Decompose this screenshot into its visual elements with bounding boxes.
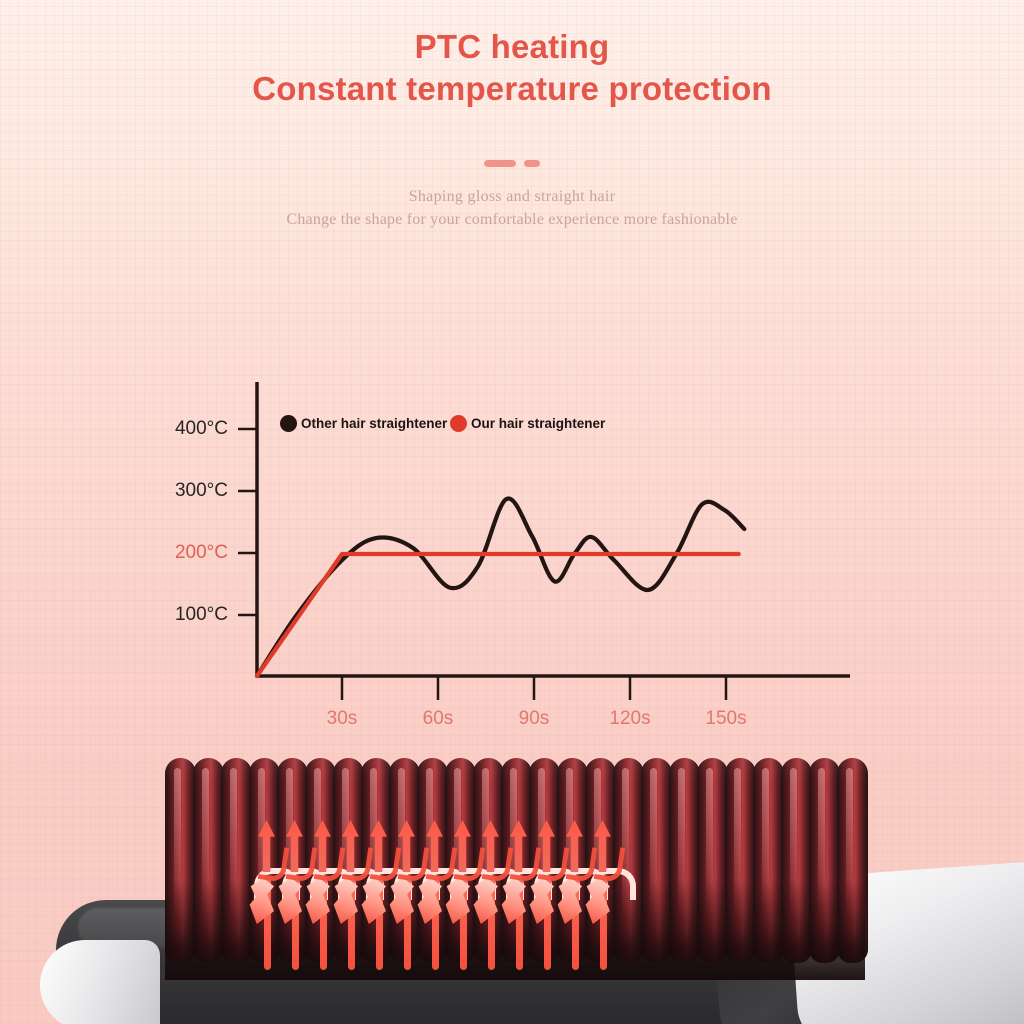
page-title-line-1: PTC heating: [0, 0, 1024, 64]
y-axis-label-400: 400°C: [158, 418, 228, 440]
x-axis-label-90s: 90s: [504, 708, 564, 730]
legend-item-other: Other hair straightener: [280, 415, 447, 432]
y-axis-label-200: 200°C: [158, 542, 228, 564]
header: PTC heating Constant temperature protect…: [0, 0, 1024, 105]
divider-dash-short: [524, 160, 540, 167]
y-axis-label-100: 100°C: [158, 604, 228, 626]
product-infographic-page: PTC heating Constant temperature protect…: [0, 0, 1024, 1024]
page-title-line-2: Constant temperature protection: [0, 64, 1024, 106]
legend-dot-our-icon: [450, 415, 467, 432]
series-line-other-hair-straightener: [257, 498, 744, 676]
heat-flow-arrows: [250, 820, 810, 950]
temperature-chart: 400°C Other hair straightener Our hair s…: [150, 370, 850, 740]
subtitle-line-1: Shaping gloss and straight hair: [0, 188, 1024, 206]
comb-tooth: [221, 758, 252, 963]
divider: [0, 160, 1024, 167]
divider-dash-long: [484, 160, 516, 167]
legend-label-our: Our hair straightener: [471, 416, 605, 431]
x-axis-label-60s: 60s: [408, 708, 468, 730]
product-photo: [0, 740, 1024, 1024]
legend-dot-other-icon: [280, 415, 297, 432]
y-axis-label-300: 300°C: [158, 480, 228, 502]
comb-tooth: [193, 758, 224, 963]
subtitle-block: Shaping gloss and straight hair Change t…: [0, 188, 1024, 229]
comb-tooth: [165, 758, 196, 963]
x-axis-label-150s: 150s: [696, 708, 756, 730]
x-axis-label-120s: 120s: [600, 708, 660, 730]
comb-left-end-cap: [40, 940, 160, 1024]
comb-tooth: [837, 758, 868, 963]
x-axis-label-30s: 30s: [312, 708, 372, 730]
comb-tooth: [809, 758, 840, 963]
subtitle-line-2: Change the shape for your comfortable ex…: [0, 211, 1024, 229]
legend-item-our: Our hair straightener: [450, 415, 605, 432]
legend-label-other: Other hair straightener: [301, 416, 447, 431]
